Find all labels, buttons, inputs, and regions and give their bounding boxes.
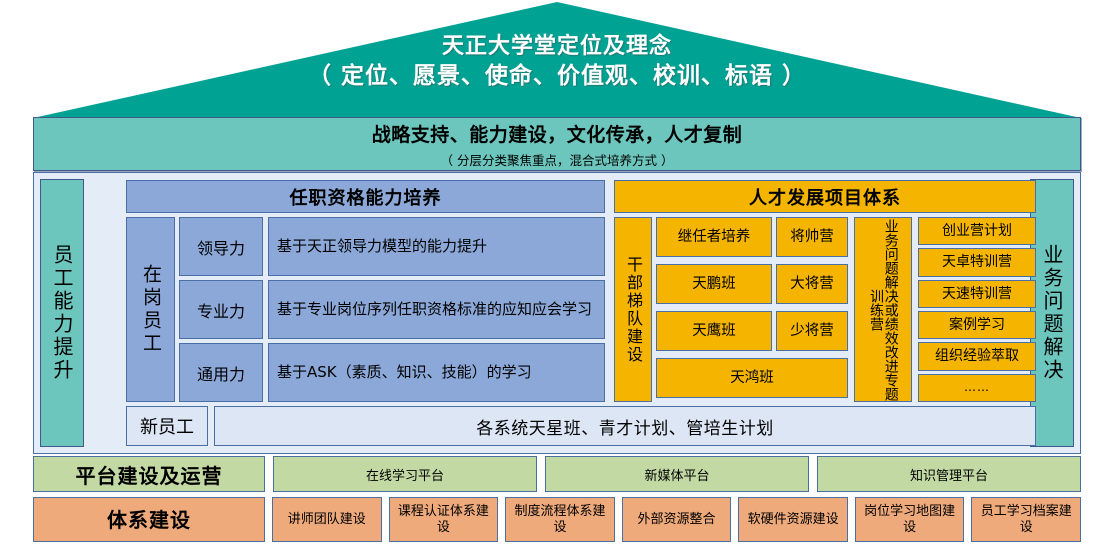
left-pillar-label: 员工能力提升 <box>52 244 72 382</box>
platform-item: 新媒体平台 <box>545 456 809 492</box>
talent-class-row: 天鹏班 大将营 <box>656 264 848 304</box>
talent-class-cell: 天鹰班 <box>656 311 772 351</box>
camp-program-item-ellipsis: …… <box>918 374 1036 402</box>
roof-section: 天正大学堂定位及理念 （ 定位、愿景、使命、价值观、校训、标语 ） <box>33 2 1081 118</box>
talent-class-cell: 继任者培养 <box>656 217 772 257</box>
roof-title-line1: 天正大学堂定位及理念 <box>33 33 1081 62</box>
roof-title-block: 天正大学堂定位及理念 （ 定位、愿景、使命、价值观、校训、标语 ） <box>33 33 1081 91</box>
platform-item: 在线学习平台 <box>273 456 537 492</box>
new-employee-programs: 各系统天星班、青才计划、管培生计划 <box>214 406 1036 446</box>
onjob-employee-column: 在岗员工 <box>126 217 175 402</box>
system-item: 课程认证体系建设 <box>389 497 499 542</box>
system-item: 制度流程体系建设 <box>505 497 615 542</box>
capability-name: 通用力 <box>179 343 263 402</box>
talent-class-row: 继任者培养 将帅营 <box>656 217 848 257</box>
diagram-canvas: 天正大学堂定位及理念 （ 定位、愿景、使命、价值观、校训、标语 ） 战略支持、能… <box>0 0 1114 551</box>
cadre-echelon-column: 干部梯队建设 <box>614 217 652 402</box>
talent-class-grid: 继任者培养 将帅营 天鹏班 大将营 天鹰班 少将营 天鸿班 <box>656 217 848 402</box>
camp-program-column: 创业营计划 天卓特训营 天速特训营 案例学习 组织经验萃取 …… <box>918 217 1036 402</box>
talent-class-row: 天鹰班 少将营 <box>656 311 848 351</box>
capability-desc: 基于专业岗位序列任职资格标准的应知应会学习 <box>268 280 605 339</box>
camp-program-item: 组织经验萃取 <box>918 342 1036 370</box>
business-training-camp-label: 业务问题解决或绩效改进专题训练营 <box>868 218 897 401</box>
system-item: 员工学习档案建设 <box>971 497 1081 542</box>
platform-row-lead: 平台建设及运营 <box>33 456 265 492</box>
new-employee-label: 新员工 <box>126 406 208 446</box>
roof-title-line2: （ 定位、愿景、使命、价值观、校训、标语 ） <box>33 62 1081 92</box>
talent-class-cell-wide: 天鸿班 <box>656 358 848 398</box>
onjob-employee-label: 在岗员工 <box>141 264 160 356</box>
right-pillar-business-problem: 业务问题解决 <box>1030 179 1074 447</box>
cadre-echelon-label: 干部梯队建设 <box>625 256 641 364</box>
strategy-band-subtitle: （ 分层分类聚焦重点，混合式培养方式 ） <box>441 150 674 169</box>
talent-program-header: 人才发展项目体系 <box>614 180 1036 213</box>
capability-desc: 基于ASK（素质、知识、技能）的学习 <box>268 343 605 402</box>
camp-program-item: 天卓特训营 <box>918 248 1036 276</box>
business-training-camp-column: 业务问题解决或绩效改进专题训练营 <box>854 217 912 402</box>
strategy-band-title: 战略支持、能力建设，文化传承，人才复制 <box>372 120 743 147</box>
camp-program-item: 案例学习 <box>918 311 1036 339</box>
camp-program-item: 天速特训营 <box>918 280 1036 308</box>
strategy-band: 战略支持、能力建设，文化传承，人才复制 （ 分层分类聚焦重点，混合式培养方式 ） <box>33 117 1081 171</box>
camp-program-item: 创业营计划 <box>918 217 1036 245</box>
qualification-header: 任职资格能力培养 <box>126 180 605 213</box>
capability-name: 专业力 <box>179 280 263 339</box>
capability-desc: 基于天正领导力模型的能力提升 <box>268 217 605 276</box>
talent-class-cell: 将帅营 <box>776 217 848 257</box>
platform-item: 知识管理平台 <box>817 456 1081 492</box>
right-pillar-label: 业务问题解决 <box>1042 244 1062 382</box>
main-body-panel: 员工能力提升 业务问题解决 任职资格能力培养 在岗员工 领导力 专业力 通用力 … <box>33 172 1081 454</box>
system-row: 体系建设 讲师团队建设 课程认证体系建设 制度流程体系建设 外部资源整合 软硬件… <box>33 497 1081 542</box>
capability-desc-column: 基于天正领导力模型的能力提升 基于专业岗位序列任职资格标准的应知应会学习 基于A… <box>268 217 605 402</box>
system-item: 讲师团队建设 <box>272 497 382 542</box>
system-row-lead: 体系建设 <box>33 497 265 542</box>
talent-class-cell: 少将营 <box>776 311 848 351</box>
capability-name-column: 领导力 专业力 通用力 <box>179 217 263 402</box>
platform-row: 平台建设及运营 在线学习平台 新媒体平台 知识管理平台 <box>33 456 1081 492</box>
system-item: 软硬件资源建设 <box>738 497 848 542</box>
system-item: 外部资源整合 <box>622 497 732 542</box>
system-item: 岗位学习地图建设 <box>855 497 965 542</box>
capability-name: 领导力 <box>179 217 263 276</box>
talent-class-cell: 大将营 <box>776 264 848 304</box>
talent-class-cell: 天鹏班 <box>656 264 772 304</box>
left-pillar-employee-capability: 员工能力提升 <box>40 179 84 447</box>
